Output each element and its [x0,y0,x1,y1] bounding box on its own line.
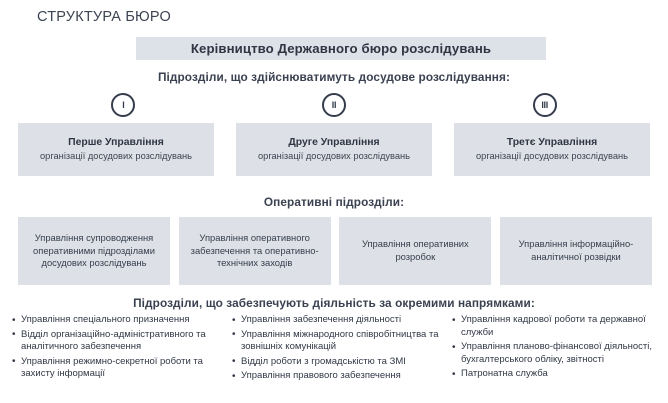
operative-unit-box: Управління інформаційно-аналітичної розв… [500,217,652,285]
support-column-3: Управління кадрової роботи та державної … [452,314,662,385]
support-list: Управління забезпечення діяльності Управ… [232,314,442,383]
list-item: Управління правового забезпечення [232,370,442,383]
section-heading-operative: Оперативні підрозділи: [0,195,668,209]
list-item: Управління планово-фінансової діяльності… [452,341,662,366]
pretrial-department-box: Третє Управління організації досудових р… [454,123,650,176]
department-title: Третє Управління [507,136,597,149]
list-item: Управління спеціального призначення [12,314,222,327]
list-item: Управління кадрової роботи та державної … [452,314,662,339]
leadership-label: Керівництво Державного бюро розслідувань [191,41,491,56]
department-subtitle: організації досудових розслідувань [258,150,410,162]
section-heading-support: Підрозділи, що забезпечують діяльність з… [0,296,668,310]
roman-numeral-row: I II III [18,94,650,116]
section-heading-pretrial: Підрозділи, що здійснюватимуть досудове … [0,70,668,84]
roman-numeral-icon: II [322,93,346,117]
leadership-banner: Керівництво Державного бюро розслідувань [136,37,546,60]
numeral-cell-3: III [439,94,650,116]
roman-numeral-icon: I [111,93,135,117]
pretrial-department-box: Перше Управління організації досудових р… [18,123,214,176]
support-column-2: Управління забезпечення діяльності Управ… [232,314,442,385]
numeral-cell-2: II [229,94,440,116]
numeral-cell-1: I [18,94,229,116]
operative-units-row: Управління супроводження оперативними пі… [18,217,652,285]
department-subtitle: організації досудових розслідувань [476,150,628,162]
operative-unit-box: Управління супроводження оперативними пі… [18,217,170,285]
department-title: Перше Управління [68,136,164,149]
roman-numeral-icon: III [533,93,557,117]
list-item: Управління забезпечення діяльності [232,314,442,327]
support-departments-columns: Управління спеціального призначення Відд… [12,314,662,385]
support-list: Управління спеціального призначення Відд… [12,314,222,381]
list-item: Відділ організаційно-адміністративного т… [12,329,222,354]
list-item: Патронатна служба [452,368,662,381]
pretrial-departments-row: Перше Управління організації досудових р… [18,123,650,176]
department-subtitle: організації досудових розслідувань [40,150,192,162]
department-title: Друге Управління [288,136,379,149]
operative-unit-box: Управління оперативних розробок [339,217,491,285]
operative-unit-box: Управління оперативного забезпечення та … [179,217,331,285]
list-item: Відділ роботи з громадськістю та ЗМІ [232,356,442,369]
list-item: Управління режимно-секретної роботи та з… [12,356,222,381]
support-list: Управління кадрової роботи та державної … [452,314,662,381]
pretrial-department-box: Друге Управління організації досудових р… [236,123,432,176]
support-column-1: Управління спеціального призначення Відд… [12,314,222,385]
list-item: Управління міжнародного співробітництва … [232,329,442,354]
page-title: СТРУКТУРА БЮРО [37,9,171,25]
